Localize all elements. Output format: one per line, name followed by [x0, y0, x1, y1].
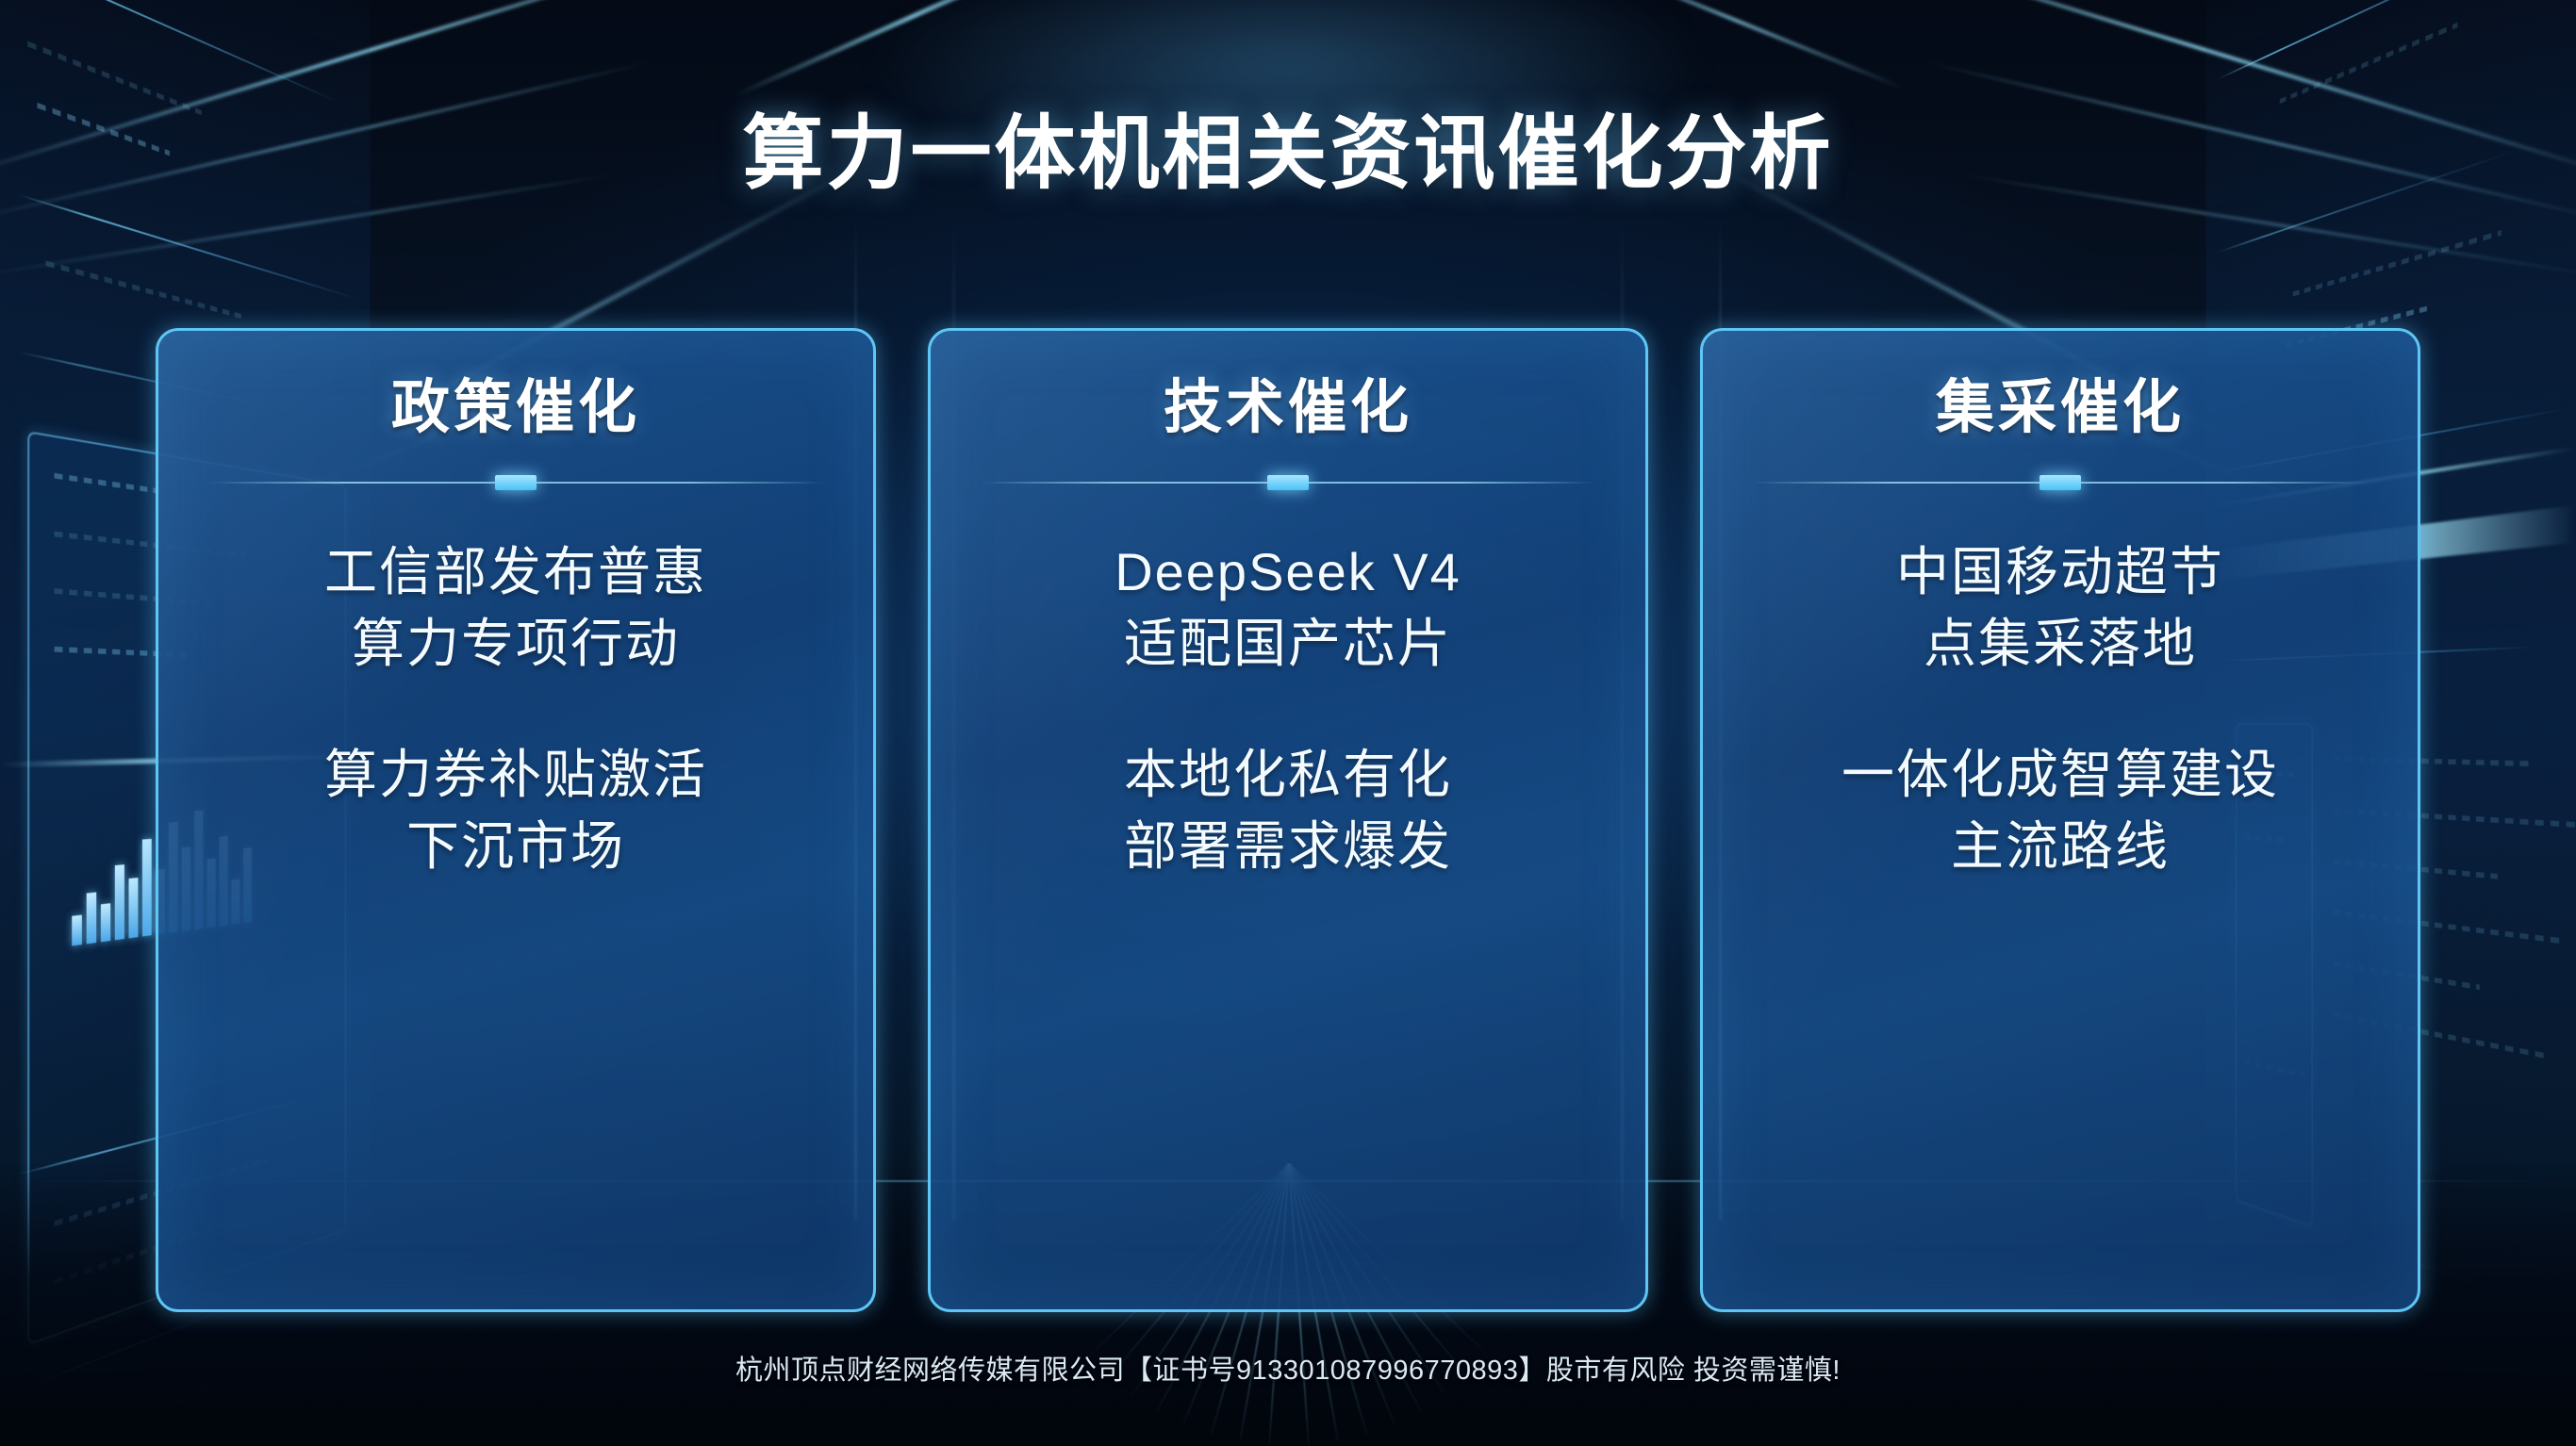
item-line-1: DeepSeek V4: [981, 536, 1595, 608]
item-line-1: 算力券补贴激活: [208, 739, 823, 811]
divider-node-icon: [2039, 475, 2081, 490]
item-line-1: 工信部发布普惠: [208, 536, 823, 608]
item-line-2: 部署需求爆发: [981, 811, 1595, 882]
catalyst-card-group: 政策催化 工信部发布普惠 算力专项行动 算力券补贴激活 下沉市场: [156, 328, 2420, 1312]
item-line-2: 下沉市场: [208, 811, 823, 882]
list-item: DeepSeek V4 适配国产芯片: [981, 536, 1595, 680]
divider-node-icon: [495, 475, 537, 490]
page-title: 算力一体机相关资讯催化分析: [0, 87, 2576, 205]
card-item-list: DeepSeek V4 适配国产芯片 本地化私有化 部署需求爆发: [931, 536, 1645, 882]
card-item-list: 工信部发布普惠 算力专项行动 算力券补贴激活 下沉市场: [158, 536, 873, 882]
item-line-1: 一体化成智算建设: [1753, 739, 2368, 811]
item-line-2: 适配国产芯片: [981, 608, 1595, 680]
item-line-1: 中国移动超节: [1753, 536, 2368, 608]
item-line-2: 主流路线: [1753, 811, 2368, 882]
card-divider: [1753, 482, 2368, 484]
list-item: 本地化私有化 部署需求爆发: [981, 739, 1595, 882]
catalyst-card-policy[interactable]: 政策催化 工信部发布普惠 算力专项行动 算力券补贴激活 下沉市场: [156, 328, 876, 1312]
card-heading: 集采催化: [1936, 376, 2185, 440]
card-item-list: 中国移动超节 点集采落地 一体化成智算建设 主流路线: [1703, 536, 2418, 882]
list-item: 一体化成智算建设 主流路线: [1753, 739, 2368, 882]
card-divider: [981, 482, 1595, 484]
card-heading: 政策催化: [391, 376, 640, 440]
item-line-2: 算力专项行动: [208, 608, 823, 680]
slide-canvas: 算力一体机相关资讯催化分析 政策催化 工信部发布普惠 算力专项行动 算力券补贴激…: [0, 0, 2576, 1446]
card-divider: [208, 482, 823, 484]
item-line-1: 本地化私有化: [981, 739, 1595, 811]
list-item: 中国移动超节 点集采落地: [1753, 536, 2368, 680]
item-line-2: 点集采落地: [1753, 608, 2368, 680]
footer-disclaimer: 杭州顶点财经网络传媒有限公司【证书号913301087996770893】股市有…: [0, 1348, 2576, 1388]
list-item: 工信部发布普惠 算力专项行动: [208, 536, 823, 680]
catalyst-card-procurement[interactable]: 集采催化 中国移动超节 点集采落地 一体化成智算建设 主流路线: [1700, 328, 2420, 1312]
catalyst-card-technology[interactable]: 技术催化 DeepSeek V4 适配国产芯片 本地化私有化 部署需求爆发: [928, 328, 1648, 1312]
card-heading: 技术催化: [1164, 376, 1412, 440]
list-item: 算力券补贴激活 下沉市场: [208, 739, 823, 882]
divider-node-icon: [1267, 475, 1309, 490]
